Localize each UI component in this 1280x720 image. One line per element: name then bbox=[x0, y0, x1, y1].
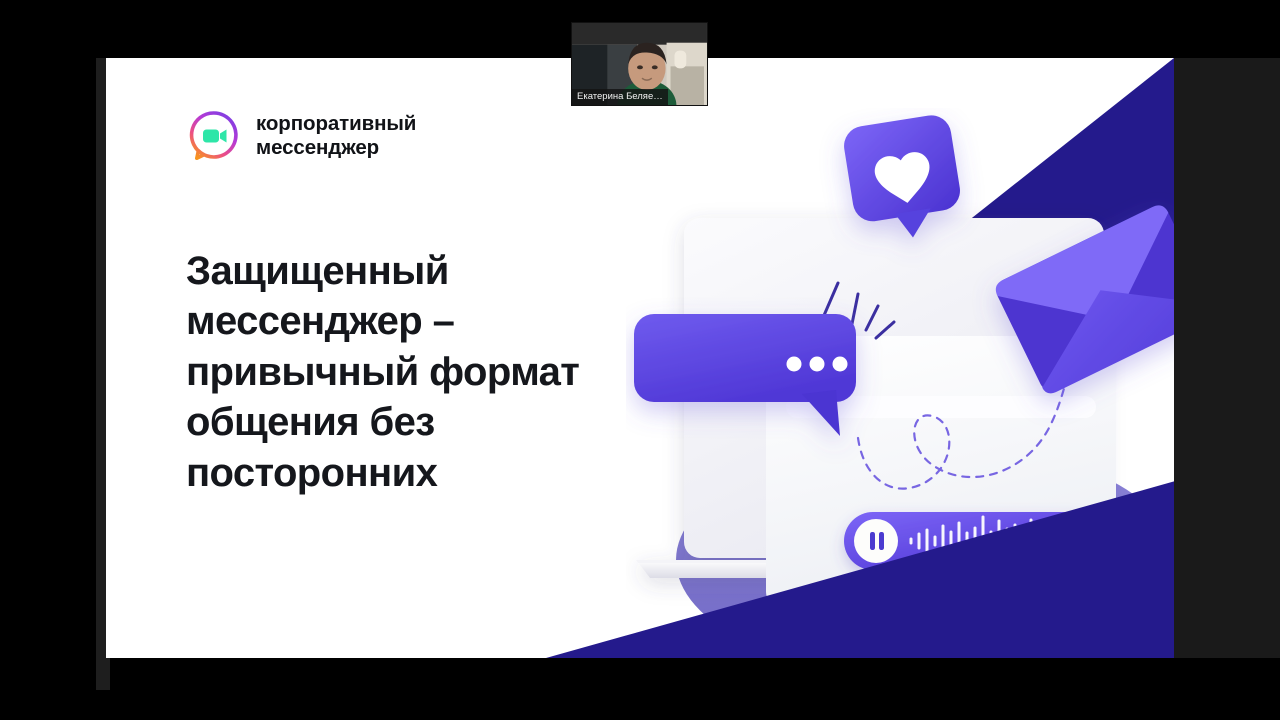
video-camera-speech-bubble-icon bbox=[186, 108, 242, 164]
participant-video-thumbnail[interactable]: Екатерина Беляе… bbox=[571, 22, 708, 106]
slide-headline: Защищенный мессенджер – привычный формат… bbox=[186, 246, 616, 498]
screen: корпоративный мессенджер Защищенный месс… bbox=[0, 0, 1280, 720]
brand-logo-text: корпоративный мессенджер bbox=[256, 112, 416, 160]
presentation-slide[interactable]: корпоративный мессенджер Защищенный месс… bbox=[106, 58, 1174, 658]
brand-logo: корпоративный мессенджер bbox=[186, 108, 416, 164]
participant-name-label: Екатерина Беляе… bbox=[572, 89, 668, 105]
right-gutter bbox=[1174, 58, 1280, 658]
